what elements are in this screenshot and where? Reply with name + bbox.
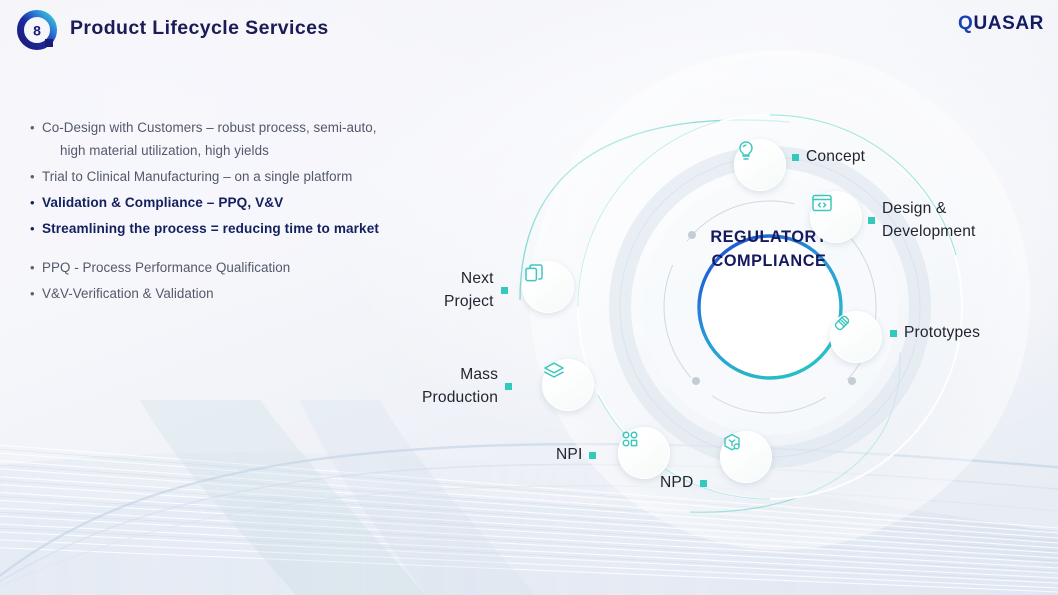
grid-shapes-icon xyxy=(618,427,642,451)
label-marker-square xyxy=(501,287,508,294)
list-item: • V&V-Verification & Validation xyxy=(30,282,500,305)
node-label-prototypes: Prototypes xyxy=(890,323,980,343)
node-label-line2: Project xyxy=(444,290,494,313)
center-label-line2: COMPLIANCE xyxy=(699,249,839,273)
page-number-text: 8 xyxy=(33,23,41,39)
bullet-marker: • xyxy=(30,217,42,240)
bullet-marker: • xyxy=(30,282,42,305)
node-label-line2: Production xyxy=(422,386,498,409)
bullet-marker: • xyxy=(30,165,42,188)
bullet-text: Co-Design with Customers – robust proces… xyxy=(42,116,377,139)
node-concept[interactable] xyxy=(734,139,786,191)
bullet-marker: • xyxy=(30,116,42,139)
bullet-marker: • xyxy=(30,191,42,214)
bullet-text: V&V-Verification & Validation xyxy=(42,282,214,305)
node-prototypes[interactable] xyxy=(830,311,882,363)
brand-logo: QUASAR xyxy=(958,13,1044,35)
node-label-line1: Mass xyxy=(422,363,498,386)
node-label-next-project: Next Project xyxy=(444,267,508,313)
node-label-text: Prototypes xyxy=(904,323,980,343)
bullet-text: Streamlining the process = reducing time… xyxy=(42,217,379,240)
bullet-text: high material utilization, high yields xyxy=(54,139,269,162)
node-label-line1: Design & xyxy=(882,197,976,220)
node-label-text: Concept xyxy=(806,147,865,167)
bullet-text: Validation & Compliance – PPQ, V&V xyxy=(42,191,283,214)
bullet-marker: • xyxy=(30,256,42,279)
chip-stack-icon xyxy=(830,311,854,335)
node-label-npi: NPI xyxy=(556,445,596,465)
node-next-project[interactable] xyxy=(522,261,574,313)
page-number-badge: 8 xyxy=(14,8,62,56)
brand-logo-q: Q xyxy=(958,13,973,34)
bullet-list: • Co-Design with Customers – robust proc… xyxy=(30,116,500,308)
brand-logo-rest: UASAR xyxy=(973,13,1044,34)
node-label-mass-production: Mass Production xyxy=(422,363,512,409)
node-label-text: NPD xyxy=(660,473,693,493)
node-npi[interactable] xyxy=(618,427,670,479)
list-item: • Validation & Compliance – PPQ, V&V xyxy=(30,191,500,214)
list-item: • Co-Design with Customers – robust proc… xyxy=(30,116,500,139)
page-title: Product Lifecycle Services xyxy=(70,17,329,40)
lightbulb-icon xyxy=(734,139,758,163)
copy-docs-icon xyxy=(522,261,546,285)
layers-icon xyxy=(542,359,566,383)
list-item: • Trial to Clinical Manufacturing – on a… xyxy=(30,165,500,188)
node-label-line1: Next xyxy=(444,267,494,290)
list-item: high material utilization, high yields xyxy=(42,139,500,162)
cube-gear-icon xyxy=(720,431,744,455)
label-marker-square xyxy=(700,480,707,487)
node-label-text: NPI xyxy=(556,445,582,465)
label-marker-square xyxy=(890,330,897,337)
label-marker-square xyxy=(589,452,596,459)
node-label-concept: Concept xyxy=(792,147,865,167)
lifecycle-diagram: REGULATORY COMPLIANCE Concept xyxy=(470,95,1050,525)
list-item: • PPQ - Process Performance Qualificatio… xyxy=(30,256,500,279)
node-label-line2: Development xyxy=(882,220,976,243)
bullet-text: PPQ - Process Performance Qualification xyxy=(42,256,290,279)
node-label-design-development: Design & Development xyxy=(868,197,976,243)
node-label-text: Mass Production xyxy=(422,363,498,409)
node-design-development[interactable] xyxy=(810,191,862,243)
list-spacer xyxy=(30,243,500,256)
node-label-npd: NPD xyxy=(660,473,707,493)
slide-header: 8 Product Lifecycle Services QUASAR xyxy=(0,0,1058,56)
label-marker-square xyxy=(868,217,875,224)
list-item: • Streamlining the process = reducing ti… xyxy=(30,217,500,240)
node-label-text: Design & Development xyxy=(882,197,976,243)
code-window-icon xyxy=(810,191,834,215)
node-npd[interactable] xyxy=(720,431,772,483)
slide-canvas: 8 Product Lifecycle Services QUASAR • Co… xyxy=(0,0,1058,595)
label-marker-square xyxy=(792,154,799,161)
node-label-text: Next Project xyxy=(444,267,494,313)
bullet-text: Trial to Clinical Manufacturing – on a s… xyxy=(42,165,352,188)
label-marker-square xyxy=(505,383,512,390)
node-mass-production[interactable] xyxy=(542,359,594,411)
